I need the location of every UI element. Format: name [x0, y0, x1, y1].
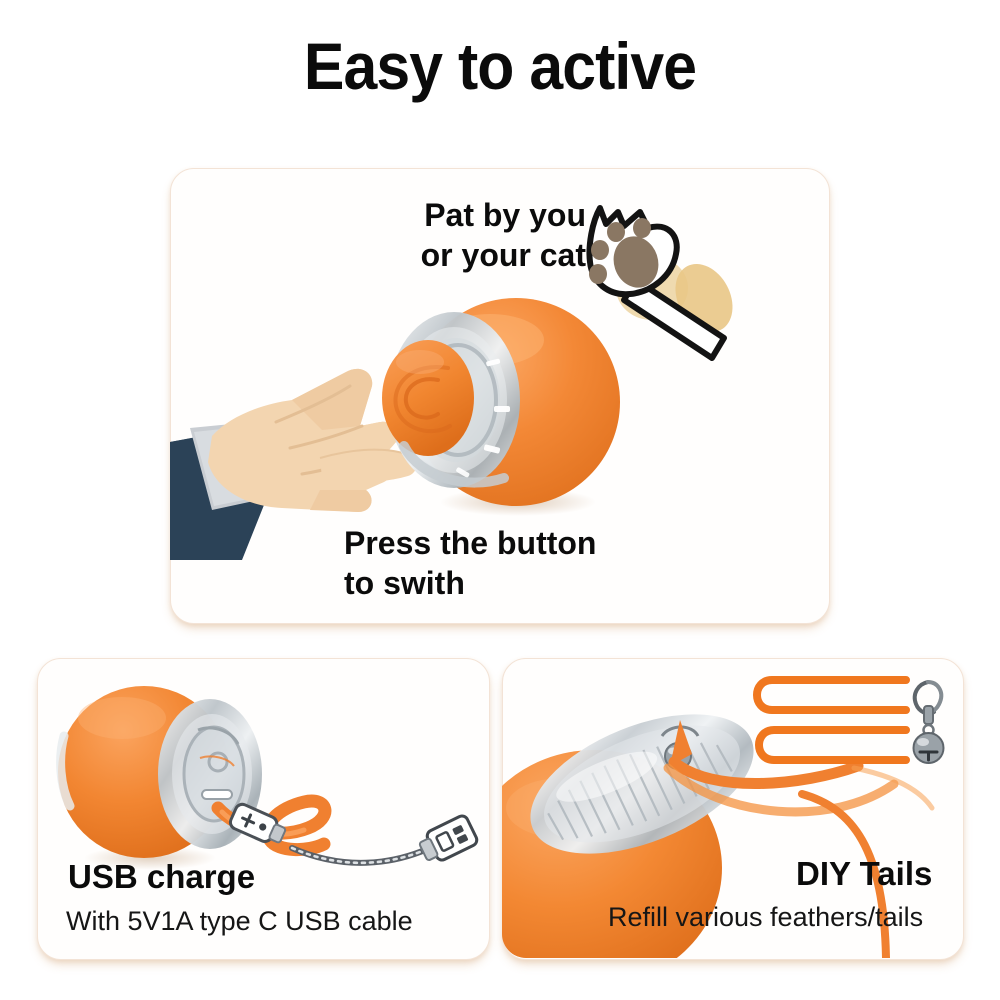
- diy-tails-title: DIY Tails: [796, 855, 932, 893]
- cat-paw-icon: [564, 188, 750, 364]
- usb-charge-illustration: [42, 662, 488, 890]
- diy-tails-subtitle: Refill various feathers/tails: [608, 902, 923, 933]
- press-heading: Press the button to swith: [344, 524, 596, 603]
- pat-heading: Pat by you or your cat: [356, 196, 586, 275]
- usb-charge-subtitle: With 5V1A type C USB cable: [66, 906, 413, 937]
- usb-charge-title: USB charge: [68, 858, 255, 896]
- page-title: Easy to active: [40, 28, 960, 104]
